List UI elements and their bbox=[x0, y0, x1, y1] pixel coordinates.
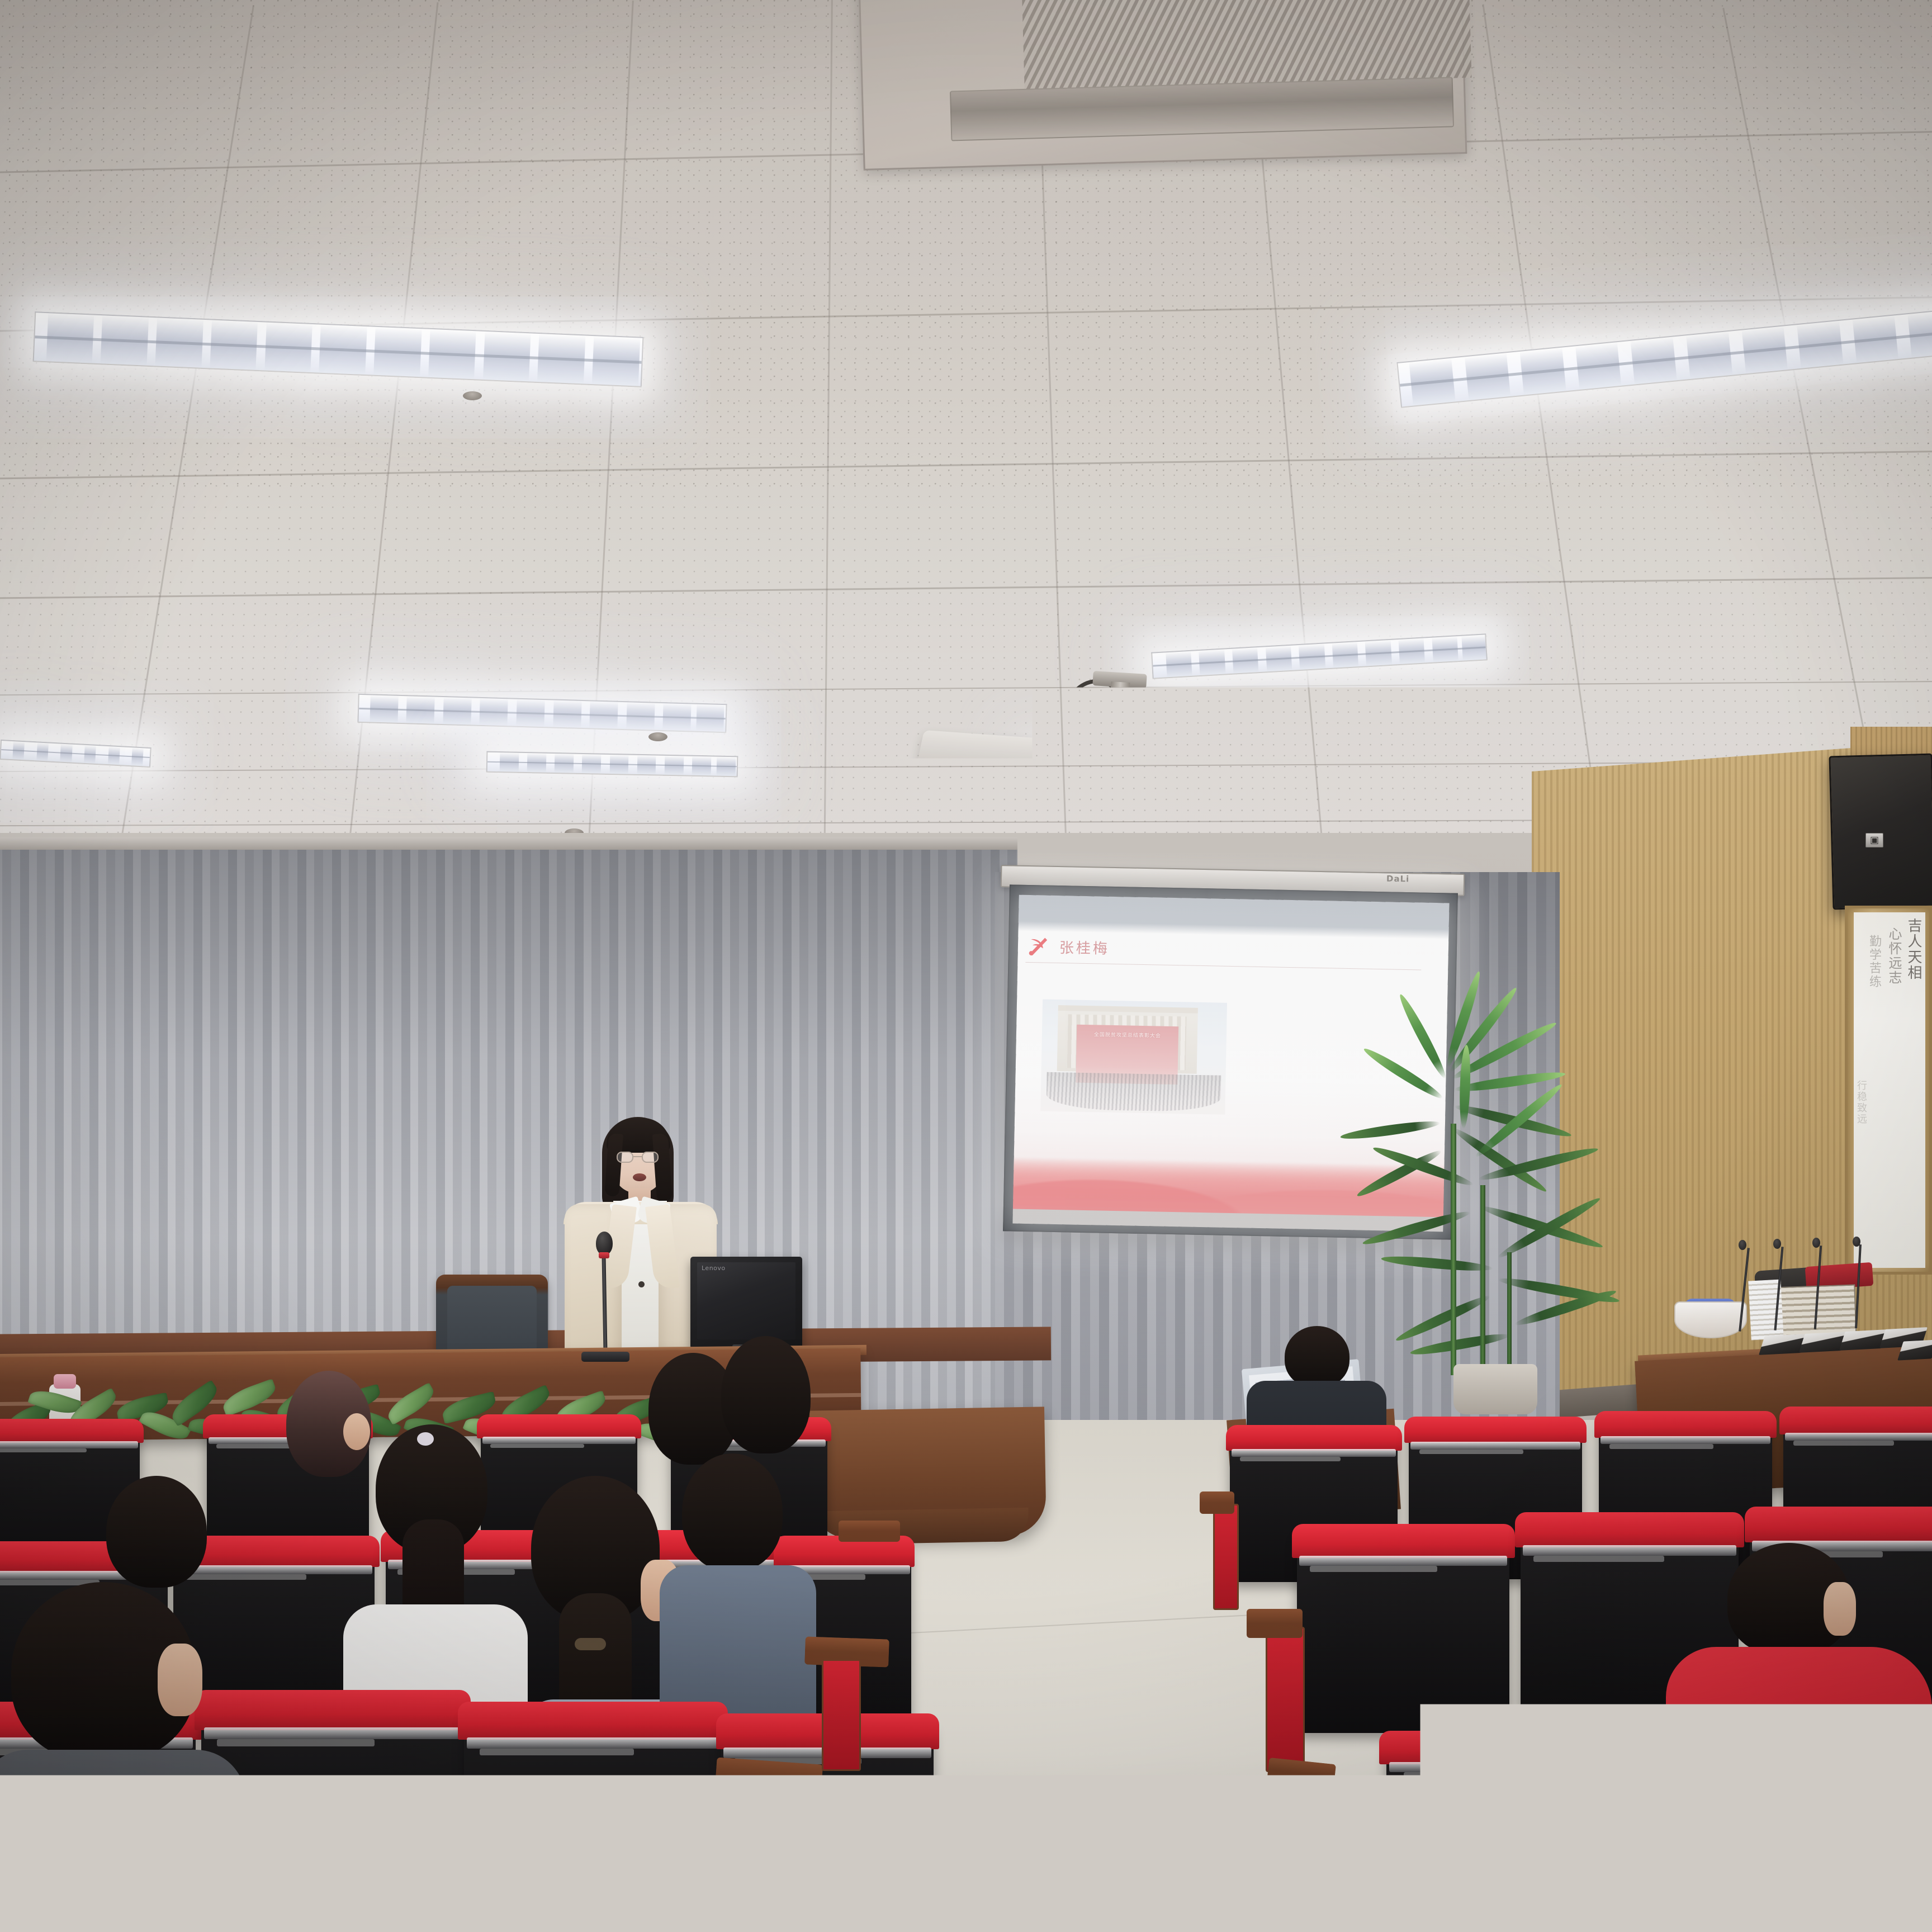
attendee-ear bbox=[158, 1644, 202, 1716]
seat-armrest bbox=[1200, 1491, 1234, 1514]
seat-side-panel bbox=[1266, 1627, 1305, 1772]
palm-plant-pot bbox=[1453, 1364, 1537, 1414]
eyeglasses-left-lens-icon bbox=[617, 1152, 633, 1163]
attendee-head bbox=[721, 1336, 811, 1453]
ac-grille-icon bbox=[1022, 0, 1472, 90]
monitor-brand-label: Lenovo bbox=[702, 1265, 726, 1272]
calligraphy-scroll: 吉人天相 心怀远志 勤学苦练 行稳致远 bbox=[1854, 912, 1925, 1268]
desk-white-bowl bbox=[1674, 1301, 1747, 1338]
seat[interactable] bbox=[1722, 1761, 1932, 1932]
speaker-jacket-button bbox=[638, 1281, 645, 1287]
desk-microphone-head-icon bbox=[1773, 1239, 1781, 1249]
conference-hall-photo: ▣ 吉人天相 心怀远志 勤学苦练 行稳致远 DaLi 张桂梅 bbox=[0, 0, 1932, 1932]
attendee-ear bbox=[1824, 1582, 1856, 1636]
slide-title: 张桂梅 bbox=[1059, 936, 1110, 958]
ceiling bbox=[0, 0, 1932, 872]
seat-side-panel bbox=[1213, 1504, 1239, 1610]
calligraphy-column-1: 吉人天相 bbox=[1906, 918, 1921, 1253]
desk-microphone-head-icon bbox=[1739, 1240, 1746, 1250]
hair-tie-icon bbox=[575, 1638, 606, 1650]
wall-speaker bbox=[1829, 754, 1932, 910]
calligraphy-column-3: 勤学苦练 bbox=[1868, 935, 1881, 1225]
curtain-rail bbox=[0, 837, 1017, 850]
attendee-head bbox=[682, 1453, 783, 1571]
seat-side-panel bbox=[1353, 1834, 1404, 1932]
sprinkler-head-icon bbox=[463, 391, 482, 400]
desk-microphone-head-icon bbox=[1812, 1238, 1820, 1248]
seat-side-panel bbox=[822, 1659, 861, 1771]
speaker-badge-icon: ▣ bbox=[1865, 833, 1883, 847]
seat-armrest bbox=[839, 1521, 900, 1542]
attendee-face bbox=[343, 1413, 370, 1450]
attendee-long-hair-foreground bbox=[78, 1783, 341, 1932]
calligraphy-column-4: 行稳致远 bbox=[1855, 1080, 1866, 1237]
projector-vent-grille bbox=[1061, 722, 1125, 765]
desk-microphone-head-icon bbox=[1853, 1237, 1860, 1247]
slide-photo: 全国脱贫攻坚总结表彰大会 bbox=[1040, 1000, 1227, 1115]
attendee-head bbox=[106, 1476, 207, 1588]
speaker-mouth bbox=[633, 1173, 646, 1181]
seat[interactable] bbox=[1297, 1532, 1509, 1733]
seat[interactable] bbox=[1386, 1739, 1677, 1932]
calligraphy-column-2: 心怀远志 bbox=[1887, 927, 1901, 1240]
screen-brand-label: DaLi bbox=[1386, 874, 1410, 884]
seat-armrest bbox=[1247, 1609, 1303, 1638]
eyeglasses-right-lens-icon bbox=[642, 1152, 659, 1163]
hair-clip-icon bbox=[417, 1432, 434, 1446]
av-operator-head bbox=[1285, 1326, 1349, 1388]
cpc-emblem-icon bbox=[1026, 934, 1051, 958]
sprinkler-head-icon bbox=[1509, 783, 1528, 792]
attendee-hair-foreground bbox=[492, 1811, 727, 1932]
seat-side-panel bbox=[744, 1789, 799, 1932]
eyeglasses-bridge-icon bbox=[633, 1156, 643, 1157]
slide-photo-audience bbox=[1046, 1072, 1221, 1112]
microphone-indicator-ring bbox=[599, 1252, 609, 1258]
desk-nameplate bbox=[1897, 1339, 1932, 1360]
sprinkler-head-icon bbox=[648, 732, 667, 741]
monitor-screen bbox=[697, 1262, 795, 1339]
microphone-head-icon[interactable] bbox=[596, 1232, 613, 1255]
